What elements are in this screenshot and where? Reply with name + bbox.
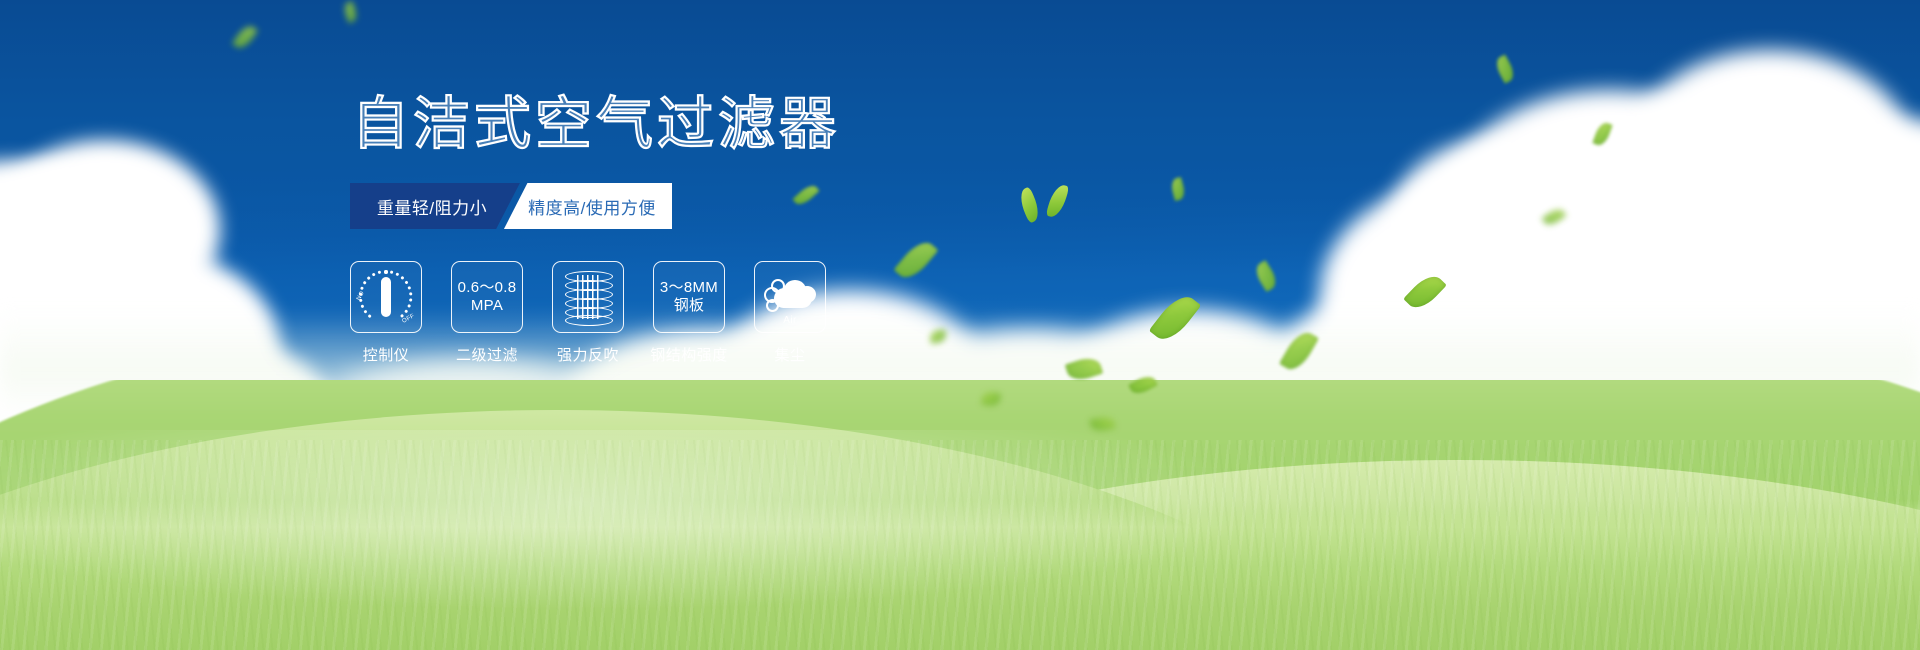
pressure-unit: MPA xyxy=(458,297,517,315)
feature-caption: 二级过滤 xyxy=(451,344,523,365)
feature-caption: 强力反吹 xyxy=(552,344,624,365)
filter-cartridge-icon xyxy=(565,271,611,323)
pressure-text-icon: 0.6〜0.8 MPA xyxy=(458,279,517,314)
feature-icon-box: 0.6〜0.8 MPA xyxy=(451,261,523,333)
feature-two-stage-filtration[interactable]: 0.6〜0.8 MPA 二级过滤 xyxy=(451,261,523,365)
air-cloud-dust-icon: Air xyxy=(764,277,816,317)
steel-material: 钢板 xyxy=(660,297,718,315)
feature-icon-box: 3〜8MM 钢板 xyxy=(653,261,725,333)
sprout-leaf-right xyxy=(1046,183,1070,220)
sprout-leaf-left xyxy=(1016,186,1044,223)
gauge-dial-icon: NO OFF xyxy=(357,268,415,326)
steel-thickness: 3〜8MM xyxy=(660,279,718,296)
feature-caption: 钢结构强度 xyxy=(638,344,740,365)
badge-highprecision-easyuse[interactable]: 精度高/使用方便 xyxy=(504,183,672,229)
grass-highlight xyxy=(0,430,1920,610)
feature-icon-box: NO OFF xyxy=(350,261,422,333)
gauge-needle xyxy=(381,277,391,317)
feature-controller[interactable]: NO OFF 控制仪 xyxy=(350,261,422,365)
feature-icon-box xyxy=(552,261,624,333)
page-title: 自洁式空气过滤器 xyxy=(352,96,1110,153)
cloud-air-label: Air xyxy=(764,315,816,326)
air-filter-hero-banner: 自洁式空气过滤器 重量轻/阻力小 精度高/使用方便 xyxy=(0,0,1920,650)
feature-dust-collection[interactable]: Air 集尘 xyxy=(754,261,826,365)
feature-caption: 控制仪 xyxy=(350,344,422,365)
feature-steel-strength[interactable]: 3〜8MM 钢板 钢结构强度 xyxy=(653,261,725,365)
gauge-label-no: NO xyxy=(356,290,366,301)
feature-strong-backblow[interactable]: 强力反吹 xyxy=(552,261,624,365)
feature-icon-row: NO OFF 控制仪 0.6〜0.8 MPA 二级过滤 xyxy=(350,261,1110,365)
feature-caption: 集尘 xyxy=(754,344,826,365)
tagline-badges: 重量轻/阻力小 精度高/使用方便 xyxy=(350,183,672,229)
steel-plate-text-icon: 3〜8MM 钢板 xyxy=(660,279,718,314)
grass-field xyxy=(0,380,1920,650)
pressure-range: 0.6〜0.8 xyxy=(458,279,517,296)
banner-content: 自洁式空气过滤器 重量轻/阻力小 精度高/使用方便 xyxy=(350,96,1110,365)
feature-icon-box: Air xyxy=(754,261,826,333)
sprout-leaves-icon xyxy=(1022,184,1078,224)
badge-lightweight-lowresistance[interactable]: 重量轻/阻力小 xyxy=(350,183,520,229)
